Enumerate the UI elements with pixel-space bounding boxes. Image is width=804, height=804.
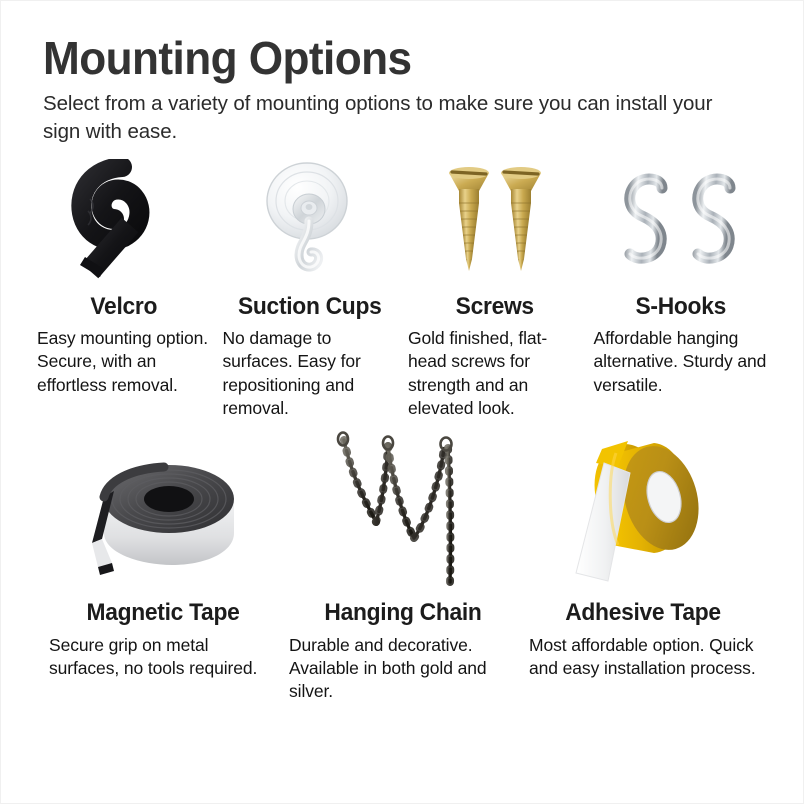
option-description: Easy mounting option. Secure, with an ef… — [37, 327, 211, 397]
option-description: Most affordable option. Quick and easy i… — [529, 634, 757, 681]
suction-cup-hook-icon — [249, 159, 369, 281]
magnetic-tape-figure — [49, 430, 277, 590]
velcro-strap-icon — [60, 159, 188, 281]
s-hooks-icon — [610, 162, 750, 278]
adhesive-tape-roll-icon — [558, 433, 728, 588]
adhesive-tape-figure — [529, 430, 757, 590]
s-hooks-figure — [594, 160, 768, 280]
option-description: Secure grip on metal surfaces, no tools … — [49, 634, 277, 681]
hanging-chain-figure — [289, 430, 517, 590]
option-description: No damage to surfaces. Easy for repositi… — [223, 327, 397, 420]
magnetic-tape-roll-icon — [68, 435, 258, 585]
option-title: Suction Cups — [227, 294, 392, 320]
option-card-velcro[interactable]: Velcro Easy mounting option. Secure, wit… — [31, 160, 217, 420]
option-title: S-Hooks — [598, 294, 763, 320]
option-title: Adhesive Tape — [535, 600, 752, 626]
option-description: Gold finished, flat-head screws for stre… — [408, 327, 582, 420]
option-card-adhesive-tape[interactable]: Adhesive Tape Most affordable option. Qu… — [523, 430, 763, 703]
option-card-screws[interactable]: Screws Gold finished, flat-head screws f… — [402, 160, 588, 420]
hanging-chain-icon — [328, 430, 478, 590]
mounting-options-panel: Mounting Options Select from a variety o… — [0, 0, 804, 804]
option-title: Hanging Chain — [295, 600, 512, 626]
suction-cup-figure — [223, 160, 397, 280]
page-subtitle: Select from a variety of mounting option… — [43, 90, 723, 146]
page-title: Mounting Options — [43, 35, 773, 82]
option-card-s-hooks[interactable]: S-Hooks Affordable hanging alternative. … — [588, 160, 774, 420]
flat-head-screws-icon — [437, 159, 553, 281]
options-row-2: Magnetic Tape Secure grip on metal surfa… — [1, 420, 803, 703]
option-card-hanging-chain[interactable]: Hanging Chain Durable and decorative. Av… — [283, 430, 523, 703]
velcro-figure — [37, 160, 211, 280]
option-card-magnetic-tape[interactable]: Magnetic Tape Secure grip on metal surfa… — [43, 430, 283, 703]
option-title: Magnetic Tape — [55, 600, 272, 626]
header: Mounting Options Select from a variety o… — [1, 1, 803, 146]
options-row-1: Velcro Easy mounting option. Secure, wit… — [1, 146, 803, 420]
option-card-suction-cups[interactable]: Suction Cups No damage to surfaces. Easy… — [217, 160, 403, 420]
option-description: Affordable hanging alternative. Sturdy a… — [594, 327, 768, 397]
option-description: Durable and decorative. Available in bot… — [289, 634, 517, 704]
screws-figure — [408, 160, 582, 280]
option-title: Screws — [412, 294, 577, 320]
option-title: Velcro — [41, 294, 206, 320]
